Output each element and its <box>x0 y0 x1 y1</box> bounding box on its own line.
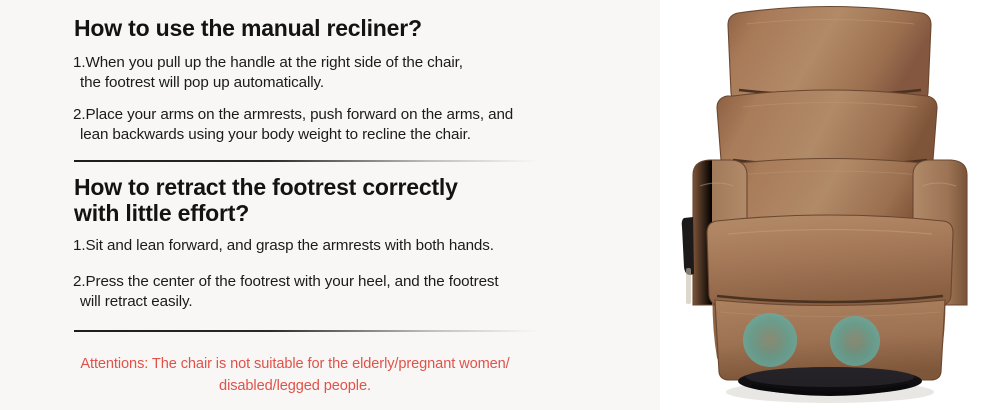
massage-spot-right-icon <box>830 316 880 366</box>
product-image-panel <box>660 0 1000 410</box>
step-number: 2. <box>73 106 85 123</box>
list-item: 1.When you pull up the handle at the rig… <box>73 53 543 93</box>
step-text-line2: lean backwards using your body weight to… <box>73 125 543 145</box>
step-number: 1. <box>73 54 85 71</box>
section-divider <box>74 330 540 332</box>
step-text-line1: Sit and lean forward, and grasp the armr… <box>85 237 493 254</box>
step-number: 2. <box>73 273 85 290</box>
section-1-heading: How to use the manual recliner? <box>74 15 422 41</box>
step-number: 1. <box>73 237 85 254</box>
section-divider <box>74 160 540 162</box>
step-text-line1: Place your arms on the armrests, push fo… <box>85 106 513 123</box>
step-text-line1: When you pull up the handle at the right… <box>85 54 462 71</box>
recliner-chair-image <box>660 0 1000 410</box>
step-text-line1: Press the center of the footrest with yo… <box>85 273 498 290</box>
list-item: 1.Sit and lean forward, and grasp the ar… <box>73 236 543 256</box>
list-item: 2.Place your arms on the armrests, push … <box>73 105 543 145</box>
lever-shaft <box>686 268 691 304</box>
attention-line1: Attentions: The chair is not suitable fo… <box>80 356 509 372</box>
instructions-panel: How to use the manual recliner? 1.When y… <box>0 0 660 410</box>
massage-spot-left-icon <box>743 313 797 367</box>
step-text-line2: will retract easily. <box>73 292 543 312</box>
attention-line2: disabled/legged people. <box>219 378 371 394</box>
list-item: 2.Press the center of the footrest with … <box>73 272 543 312</box>
section-2-heading: How to retract the footrest correctly wi… <box>74 174 458 226</box>
product-instruction-banner: How to use the manual recliner? 1.When y… <box>0 0 1000 410</box>
attention-notice: Attentions: The chair is not suitable fo… <box>60 353 530 397</box>
swivel-base-inner <box>746 367 914 387</box>
step-text-line2: the footrest will pop up automatically. <box>73 73 543 93</box>
